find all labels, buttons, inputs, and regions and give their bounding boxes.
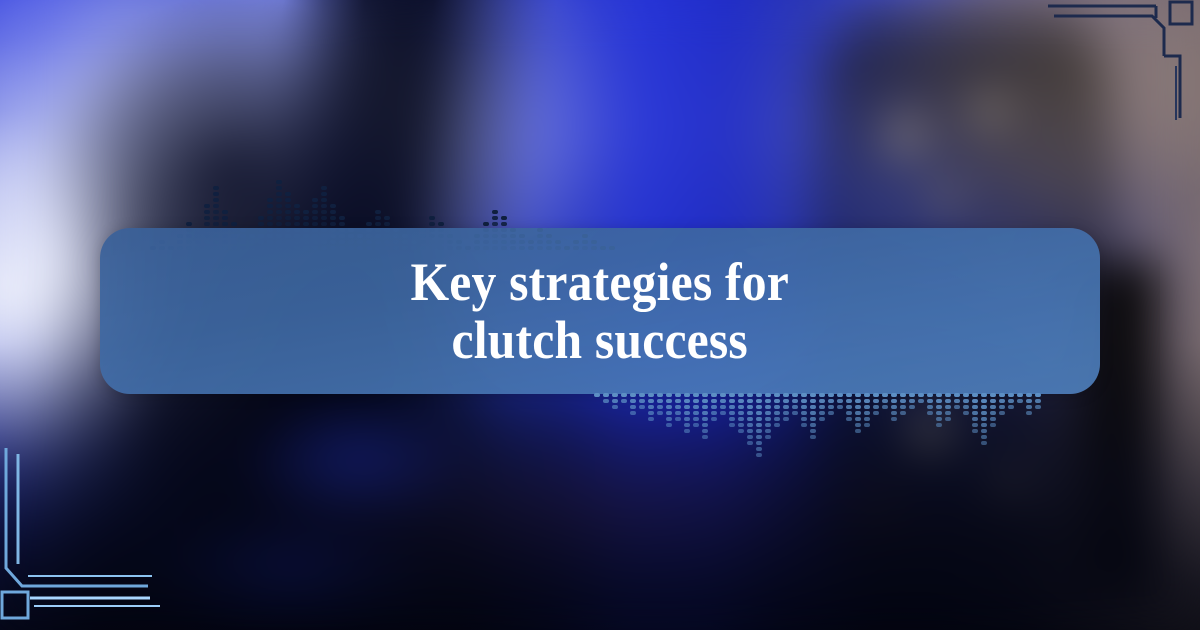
- waveform-dot: [828, 411, 834, 415]
- waveform-dot: [855, 399, 861, 403]
- waveform-dot: [303, 210, 309, 214]
- waveform-dot: [945, 405, 951, 409]
- waveform-dot: [846, 399, 852, 403]
- waveform-column: [648, 393, 654, 421]
- waveform-dot: [1008, 399, 1014, 403]
- waveform-column: [846, 393, 852, 421]
- waveform-column: [594, 393, 600, 397]
- waveform-dot: [612, 405, 618, 409]
- waveform-dot: [783, 405, 789, 409]
- waveform-dot: [693, 405, 699, 409]
- waveform-column: [828, 393, 834, 415]
- waveform-dot: [756, 393, 762, 397]
- waveform-dot: [990, 411, 996, 415]
- waveform-dot: [321, 210, 327, 214]
- waveform-dot: [501, 222, 507, 226]
- waveform-dot: [276, 222, 282, 226]
- waveform-dot: [321, 216, 327, 220]
- waveform-dot: [999, 393, 1005, 397]
- waveform-dot: [1035, 399, 1041, 403]
- waveform-column: [621, 393, 627, 403]
- waveform-dot: [657, 393, 663, 397]
- waveform-dot: [738, 399, 744, 403]
- waveform-dot: [837, 393, 843, 397]
- waveform-dot: [837, 399, 843, 403]
- waveform-dot: [747, 393, 753, 397]
- waveform-dot: [891, 393, 897, 397]
- waveform-column: [981, 393, 987, 445]
- waveform-dot: [765, 423, 771, 427]
- waveform-dot: [684, 399, 690, 403]
- waveform-dot: [648, 393, 654, 397]
- waveform-dot: [711, 411, 717, 415]
- waveform-dot: [891, 411, 897, 415]
- waveform-column: [792, 393, 798, 415]
- waveform-dot: [1026, 393, 1032, 397]
- waveform-dot: [783, 411, 789, 415]
- waveform-dot: [375, 222, 381, 226]
- waveform-dot: [900, 393, 906, 397]
- waveform-dot: [810, 399, 816, 403]
- waveform-dot: [711, 417, 717, 421]
- waveform-dot: [819, 417, 825, 421]
- waveform-dot: [594, 393, 600, 397]
- waveform-dot: [747, 405, 753, 409]
- waveform-column: [693, 393, 699, 427]
- waveform-dot: [801, 399, 807, 403]
- waveform-dot: [321, 204, 327, 208]
- waveform-dot: [285, 216, 291, 220]
- waveform-dot: [303, 216, 309, 220]
- waveform-column: [819, 393, 825, 421]
- waveform-dot: [684, 429, 690, 433]
- waveform-dot: [666, 393, 672, 397]
- waveform-dot: [981, 435, 987, 439]
- waveform-dot: [900, 399, 906, 403]
- waveform-dot: [936, 411, 942, 415]
- waveform-dot: [783, 399, 789, 403]
- waveform-dot: [846, 405, 852, 409]
- waveform-dot: [756, 435, 762, 439]
- waveform-dot: [492, 210, 498, 214]
- waveform-dot: [702, 435, 708, 439]
- waveform-dot: [900, 405, 906, 409]
- waveform-column: [666, 393, 672, 427]
- waveform-dot: [648, 405, 654, 409]
- waveform-dot: [366, 222, 372, 226]
- waveform-dot: [267, 216, 273, 220]
- waveform-dot: [621, 393, 627, 397]
- waveform-dot: [972, 393, 978, 397]
- waveform-column: [945, 393, 951, 421]
- waveform-dot: [972, 405, 978, 409]
- waveform-dot: [276, 198, 282, 202]
- waveform-dot: [429, 216, 435, 220]
- waveform-dot: [276, 204, 282, 208]
- waveform-dot: [657, 399, 663, 403]
- waveform-column: [810, 393, 816, 439]
- waveform-dot: [810, 435, 816, 439]
- waveform-dot: [213, 222, 219, 226]
- waveform-column: [684, 393, 690, 433]
- waveform-dot: [1035, 393, 1041, 397]
- waveform-dot: [756, 423, 762, 427]
- waveform-dot: [693, 411, 699, 415]
- waveform-column: [972, 393, 978, 433]
- waveform-dot: [186, 222, 192, 226]
- waveform-dot: [330, 210, 336, 214]
- waveform-dot: [312, 222, 318, 226]
- waveform-dot: [747, 417, 753, 421]
- waveform-dot: [774, 423, 780, 427]
- waveform-column: [936, 393, 942, 427]
- waveform-dot: [783, 417, 789, 421]
- waveform-dot: [702, 423, 708, 427]
- waveform-dot: [312, 210, 318, 214]
- waveform-dot: [972, 423, 978, 427]
- waveform-dot: [765, 399, 771, 403]
- waveform-dot: [213, 210, 219, 214]
- waveform-dot: [204, 216, 210, 220]
- waveform-dot: [720, 399, 726, 403]
- waveform-dot: [729, 399, 735, 403]
- waveform-dot: [204, 210, 210, 214]
- waveform-column: [963, 393, 969, 415]
- waveform-dot: [711, 393, 717, 397]
- waveform-dot: [738, 423, 744, 427]
- waveform-dot: [675, 405, 681, 409]
- waveform-dot: [810, 405, 816, 409]
- waveform-dot: [756, 441, 762, 445]
- waveform-dot: [855, 429, 861, 433]
- waveform-dot: [801, 417, 807, 421]
- waveform-dot: [330, 222, 336, 226]
- waveform-dot: [855, 411, 861, 415]
- waveform-dot: [873, 411, 879, 415]
- waveform-dot: [891, 399, 897, 403]
- waveform-dot: [738, 405, 744, 409]
- waveform-dot: [720, 393, 726, 397]
- waveform-dot: [492, 216, 498, 220]
- waveform-dot: [945, 399, 951, 403]
- waveform-dot: [630, 411, 636, 415]
- waveform-dot: [330, 204, 336, 208]
- waveform-dot: [639, 405, 645, 409]
- waveform-dot: [954, 393, 960, 397]
- waveform-dot: [999, 399, 1005, 403]
- waveform-dot: [765, 429, 771, 433]
- waveform-dot: [1035, 405, 1041, 409]
- waveform-dot: [855, 405, 861, 409]
- waveform-dot: [213, 186, 219, 190]
- waveform-dot: [828, 399, 834, 403]
- waveform-dot: [258, 222, 264, 226]
- waveform-dot: [954, 405, 960, 409]
- waveform-dot: [945, 411, 951, 415]
- waveform-dot: [429, 222, 435, 226]
- waveform-dot: [267, 204, 273, 208]
- title-card: Key strategies for clutch success: [100, 228, 1100, 394]
- waveform-dot: [693, 399, 699, 403]
- waveform-dot: [990, 405, 996, 409]
- waveform-column: [612, 393, 618, 409]
- waveform-dot: [864, 399, 870, 403]
- waveform-dot: [702, 411, 708, 415]
- waveform-column: [1008, 393, 1014, 409]
- waveform-dot: [330, 216, 336, 220]
- waveform-dot: [675, 393, 681, 397]
- waveform-dot: [846, 417, 852, 421]
- waveform-dot: [603, 393, 609, 397]
- waveform-column: [855, 393, 861, 433]
- waveform-dot: [231, 222, 237, 226]
- waveform-dot: [285, 198, 291, 202]
- waveform-dot: [900, 411, 906, 415]
- waveform-column: [927, 393, 933, 415]
- waveform-dot: [981, 399, 987, 403]
- waveform-dot: [792, 411, 798, 415]
- waveform-dot: [312, 216, 318, 220]
- waveform-column: [891, 393, 897, 421]
- waveform-dot: [756, 411, 762, 415]
- waveform-dot: [855, 393, 861, 397]
- waveform-dot: [819, 405, 825, 409]
- waveform-dot: [276, 192, 282, 196]
- waveform-column: [1026, 393, 1032, 415]
- waveform-dot: [675, 417, 681, 421]
- waveform-dot: [747, 411, 753, 415]
- waveform-dot: [765, 417, 771, 421]
- waveform-dot: [438, 222, 444, 226]
- waveform-dot: [972, 417, 978, 421]
- audio-waveform-bottom: [594, 393, 1041, 493]
- waveform-column: [774, 393, 780, 427]
- waveform-column: [882, 393, 888, 409]
- waveform-dot: [684, 411, 690, 415]
- waveform-dot: [873, 405, 879, 409]
- waveform-dot: [864, 423, 870, 427]
- waveform-dot: [666, 411, 672, 415]
- waveform-dot: [999, 411, 1005, 415]
- waveform-dot: [963, 411, 969, 415]
- waveform-dot: [711, 405, 717, 409]
- waveform-dot: [684, 423, 690, 427]
- waveform-dot: [1017, 393, 1023, 397]
- waveform-dot: [801, 423, 807, 427]
- waveform-dot: [927, 411, 933, 415]
- waveform-column: [657, 393, 663, 415]
- circuit-corner-bottom-left: [0, 440, 190, 630]
- waveform-dot: [621, 399, 627, 403]
- waveform-dot: [339, 216, 345, 220]
- waveform-column: [999, 393, 1005, 415]
- waveform-column: [729, 393, 735, 427]
- waveform-dot: [765, 405, 771, 409]
- waveform-dot: [864, 411, 870, 415]
- waveform-dot: [801, 405, 807, 409]
- waveform-dot: [882, 405, 888, 409]
- waveform-dot: [1026, 405, 1032, 409]
- waveform-dot: [882, 399, 888, 403]
- waveform-dot: [222, 222, 228, 226]
- waveform-dot: [639, 399, 645, 403]
- waveform-dot: [693, 423, 699, 427]
- waveform-dot: [864, 417, 870, 421]
- waveform-dot: [963, 399, 969, 403]
- waveform-dot: [918, 393, 924, 397]
- waveform-dot: [801, 393, 807, 397]
- waveform-dot: [693, 417, 699, 421]
- waveform-column: [711, 393, 717, 421]
- waveform-dot: [756, 399, 762, 403]
- waveform-dot: [1017, 399, 1023, 403]
- waveform-dot: [648, 417, 654, 421]
- waveform-dot: [648, 411, 654, 415]
- waveform-column: [603, 393, 609, 403]
- waveform-dot: [657, 405, 663, 409]
- waveform-dot: [981, 411, 987, 415]
- waveform-dot: [720, 405, 726, 409]
- waveform-dot: [492, 222, 498, 226]
- waveform-dot: [729, 405, 735, 409]
- waveform-dot: [918, 399, 924, 403]
- waveform-dot: [936, 399, 942, 403]
- waveform-dot: [222, 216, 228, 220]
- waveform-dot: [285, 192, 291, 196]
- waveform-column: [675, 393, 681, 421]
- waveform-dot: [846, 393, 852, 397]
- waveform-dot: [666, 405, 672, 409]
- waveform-dot: [483, 222, 489, 226]
- waveform-dot: [666, 399, 672, 403]
- waveform-dot: [801, 411, 807, 415]
- waveform-dot: [927, 399, 933, 403]
- waveform-dot: [675, 399, 681, 403]
- waveform-dot: [828, 405, 834, 409]
- waveform-dot: [981, 423, 987, 427]
- waveform-dot: [981, 441, 987, 445]
- waveform-dot: [999, 405, 1005, 409]
- waveform-dot: [702, 405, 708, 409]
- waveform-dot: [204, 222, 210, 226]
- waveform-dot: [990, 393, 996, 397]
- waveform-dot: [747, 399, 753, 403]
- waveform-dot: [747, 423, 753, 427]
- waveform-dot: [684, 393, 690, 397]
- waveform-dot: [774, 411, 780, 415]
- waveform-column: [801, 393, 807, 427]
- waveform-dot: [321, 192, 327, 196]
- waveform-dot: [666, 423, 672, 427]
- waveform-dot: [612, 399, 618, 403]
- waveform-dot: [501, 216, 507, 220]
- waveform-dot: [981, 417, 987, 421]
- waveform-dot: [873, 399, 879, 403]
- waveform-dot: [855, 423, 861, 427]
- waveform-dot: [774, 405, 780, 409]
- waveform-dot: [675, 411, 681, 415]
- waveform-dot: [963, 393, 969, 397]
- waveform-dot: [936, 417, 942, 421]
- waveform-dot: [258, 216, 264, 220]
- waveform-column: [783, 393, 789, 421]
- share-card-image: Key strategies for clutch success: [0, 0, 1200, 630]
- waveform-dot: [720, 411, 726, 415]
- waveform-dot: [792, 405, 798, 409]
- waveform-dot: [810, 411, 816, 415]
- waveform-dot: [294, 222, 300, 226]
- waveform-dot: [303, 222, 309, 226]
- waveform-dot: [864, 393, 870, 397]
- waveform-column: [873, 393, 879, 415]
- waveform-dot: [945, 393, 951, 397]
- waveform-column: [900, 393, 906, 415]
- waveform-column: [738, 393, 744, 433]
- waveform-dot: [792, 399, 798, 403]
- waveform-dot: [267, 222, 273, 226]
- waveform-dot: [294, 216, 300, 220]
- waveform-dot: [765, 393, 771, 397]
- waveform-dot: [312, 204, 318, 208]
- waveform-dot: [909, 393, 915, 397]
- waveform-dot: [783, 393, 789, 397]
- waveform-dot: [204, 204, 210, 208]
- waveform-dot: [702, 399, 708, 403]
- waveform-dot: [213, 204, 219, 208]
- waveform-dot: [1008, 393, 1014, 397]
- waveform-dot: [747, 429, 753, 433]
- waveform-dot: [990, 417, 996, 421]
- waveform-dot: [954, 399, 960, 403]
- waveform-dot: [963, 405, 969, 409]
- waveform-column: [702, 393, 708, 439]
- waveform-dot: [276, 180, 282, 184]
- waveform-dot: [294, 204, 300, 208]
- waveform-dot: [819, 411, 825, 415]
- waveform-column: [720, 393, 726, 415]
- waveform-dot: [756, 447, 762, 451]
- waveform-dot: [756, 417, 762, 421]
- waveform-dot: [375, 216, 381, 220]
- waveform-dot: [657, 411, 663, 415]
- waveform-column: [864, 393, 870, 427]
- waveform-dot: [981, 429, 987, 433]
- waveform-column: [837, 393, 843, 409]
- waveform-dot: [837, 405, 843, 409]
- waveform-dot: [1008, 405, 1014, 409]
- waveform-dot: [765, 435, 771, 439]
- waveform-dot: [972, 429, 978, 433]
- waveform-dot: [729, 393, 735, 397]
- waveform-dot: [630, 393, 636, 397]
- waveform-dot: [810, 393, 816, 397]
- waveform-dot: [981, 405, 987, 409]
- waveform-dot: [909, 399, 915, 403]
- waveform-dot: [909, 405, 915, 409]
- waveform-column: [639, 393, 645, 409]
- waveform-dot: [384, 216, 390, 220]
- waveform-dot: [639, 393, 645, 397]
- waveform-dot: [756, 405, 762, 409]
- waveform-dot: [738, 393, 744, 397]
- waveform-dot: [774, 399, 780, 403]
- waveform-dot: [891, 417, 897, 421]
- waveform-dot: [927, 405, 933, 409]
- waveform-dot: [738, 417, 744, 421]
- waveform-dot: [846, 411, 852, 415]
- waveform-dot: [1026, 411, 1032, 415]
- waveform-dot: [321, 198, 327, 202]
